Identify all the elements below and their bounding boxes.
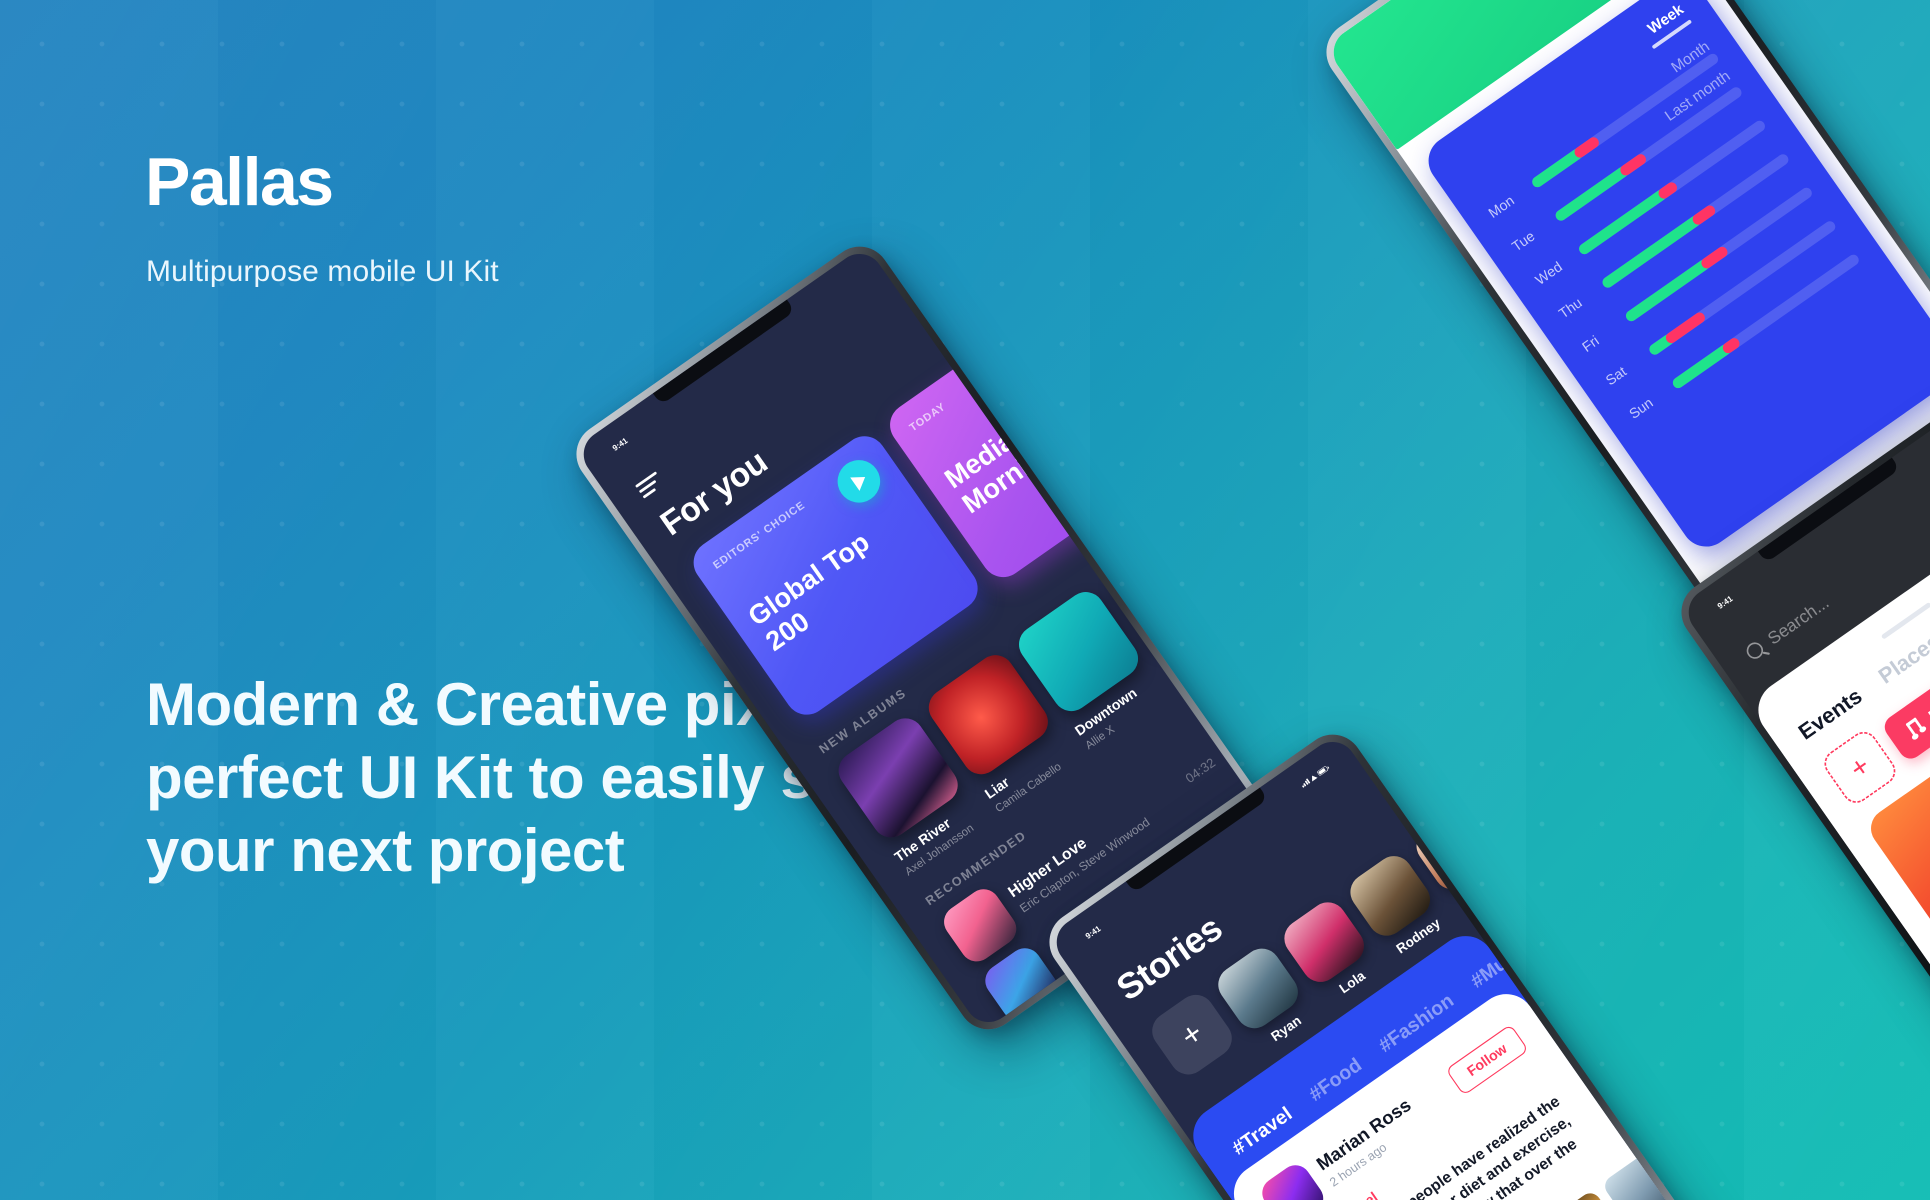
hamburger-menu-icon[interactable]	[635, 471, 665, 498]
search-icon	[1743, 639, 1766, 662]
music-note-icon	[1904, 716, 1928, 741]
album-artist: J.Fla	[1173, 623, 1259, 689]
post-photo-thumb[interactable]	[1601, 1134, 1706, 1200]
chart-segment-missed	[1664, 310, 1707, 345]
avatar	[1409, 803, 1503, 897]
status-time: 9:41	[1716, 594, 1735, 611]
album-title: Sym	[1162, 607, 1250, 676]
chart-tab-week[interactable]: Week	[1638, 1, 1692, 50]
brand-tagline: Multipurpose mobile UI Kit	[146, 255, 499, 289]
play-icon[interactable]	[829, 452, 888, 511]
status-icons	[1300, 766, 1329, 788]
search-placeholder: Search...	[1764, 592, 1833, 649]
status-time: 9:41	[611, 436, 630, 453]
chart-segment-missed	[1690, 203, 1716, 226]
signal-icon	[1300, 778, 1310, 788]
chart-day-label: Thu	[1556, 285, 1599, 322]
hashtag-music[interactable]: #Music	[1466, 936, 1534, 993]
chart-day-label: Sun	[1626, 386, 1669, 423]
chart-day-label: Sat	[1602, 352, 1645, 389]
follow-button[interactable]: Follow	[1445, 1024, 1529, 1096]
add-story-button[interactable]: +	[1145, 988, 1239, 1082]
chart-day-label: Tue	[1509, 218, 1552, 255]
chart-bar-rows: MonTueWedThuFriSatSun	[1485, 49, 1876, 442]
status-time: 9:41	[1084, 924, 1103, 941]
chart-day-label: Fri	[1579, 319, 1622, 356]
chip-label: Music	[1925, 681, 1930, 726]
plus-icon: +	[1845, 751, 1875, 784]
wifi-icon	[1309, 773, 1318, 782]
brand-title: Pallas	[145, 148, 333, 216]
story-name: Susie	[1452, 864, 1516, 916]
battery-icon	[1317, 766, 1329, 777]
chart-segment-missed	[1618, 152, 1648, 178]
featured-name: Media Morning	[939, 361, 1128, 519]
chart-segment-missed	[1699, 245, 1729, 271]
chart-segment-missed	[1572, 135, 1600, 159]
track-duration: 04:32	[1183, 755, 1219, 786]
weekly-activity-chart: Week Month Last month MonTueWedThuFriSat…	[1419, 0, 1930, 556]
chart-day-label: Mon	[1485, 185, 1528, 222]
add-category-button[interactable]: +	[1819, 726, 1901, 808]
chart-day-label: Wed	[1532, 252, 1575, 289]
promo-stage: Pallas Multipurpose mobile UI Kit Modern…	[0, 0, 1930, 1200]
